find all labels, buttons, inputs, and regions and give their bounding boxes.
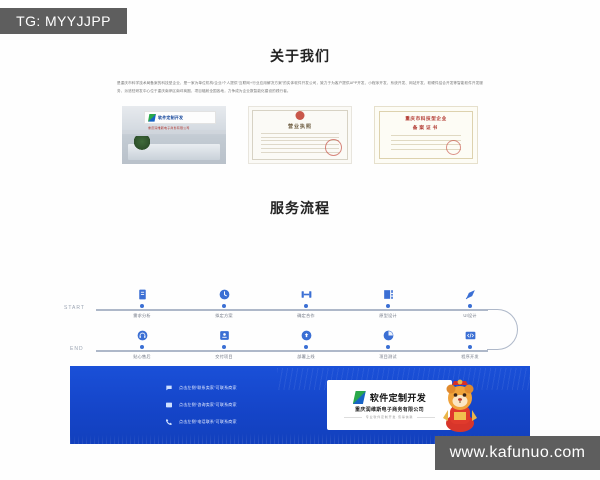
process-dot <box>468 345 472 349</box>
certificate-subtitle: 备案证书 <box>413 125 439 131</box>
process-dot <box>386 345 390 349</box>
process-node-6[interactable]: 贴心售后 <box>107 329 177 360</box>
tech-certificate-image[interactable]: 重庆市科技型企业 备案证书 <box>374 106 478 164</box>
process-dot <box>140 345 144 349</box>
contact-row-chat[interactable]: 点击左侧“联系卖家”可联系商家 <box>165 384 237 392</box>
code-icon <box>464 329 477 342</box>
headset-icon <box>136 329 149 342</box>
process-node-3[interactable]: 确定合作 <box>271 288 341 319</box>
process-dot <box>222 345 226 349</box>
content-column: 关于我们 是重庆市科学技术局备案的科技型企业，是一家为单位机构/企业/个人提供“… <box>60 0 540 421</box>
office-company-text: 重庆润维斯电子商务有限公司 <box>148 126 190 130</box>
process-node-label: 项目测试 <box>353 354 423 360</box>
contact-text: 点击左侧“电话联系”可联系商家 <box>179 419 237 425</box>
process-node-label: 贴心售后 <box>107 354 177 360</box>
contact-row-phone[interactable]: 点击左侧“电话联系”可联系商家 <box>165 418 237 426</box>
about-section-title: 关于我们 <box>60 46 540 66</box>
message-icon <box>165 401 173 409</box>
card-brand-row: 软件定制开发 <box>353 391 426 404</box>
license-title: 营业执照 <box>288 123 312 130</box>
process-node-label: 需求分析 <box>107 313 177 319</box>
process-dot <box>304 345 308 349</box>
phone-icon <box>165 418 173 426</box>
certificate-title: 重庆市科技型企业 <box>405 116 447 122</box>
contact-text: 点击左侧“联系卖家”可联系商家 <box>179 385 237 391</box>
license-emblem-icon <box>296 111 305 120</box>
process-dot <box>222 304 226 308</box>
brand-logo-icon <box>148 114 156 122</box>
office-signboard: 软件定制开发 <box>144 111 216 124</box>
card-company-name: 重庆润维斯电子商务有限公司 <box>355 406 424 413</box>
office-plant <box>134 136 150 150</box>
process-node-5[interactable]: UI设计 <box>435 288 505 319</box>
credential-images: 软件定制开发 重庆润维斯电子商务有限公司 营业执照 重庆市科技型企业 备案证书 <box>60 106 540 164</box>
cloud-upload-icon <box>300 329 313 342</box>
delivery-icon <box>218 329 231 342</box>
process-node-9[interactable]: 项目测试 <box>353 329 423 360</box>
page-root: 关于我们 是重庆市科学技术局备案的科技型企业，是一家为单位机构/企业/个人提供“… <box>0 0 600 480</box>
process-node-label: UI设计 <box>435 313 505 319</box>
process-node-label: 部署上线 <box>271 354 341 360</box>
footer-contacts: 点击左侧“联系卖家”可联系商家 点击左侧“咨询卖家”可联系商家 点击左侧“电话联… <box>165 384 237 435</box>
chart-icon <box>382 329 395 342</box>
document-icon <box>136 288 149 301</box>
process-node-7[interactable]: 交付项目 <box>189 329 259 360</box>
layout-icon <box>382 288 395 301</box>
contact-row-message[interactable]: 点击左侧“咨询卖家”可联系商家 <box>165 401 237 409</box>
contact-text: 点击左侧“咨询卖家”可联系商家 <box>179 402 237 408</box>
process-node-4[interactable]: 原型设计 <box>353 288 423 319</box>
process-dot <box>304 304 308 308</box>
process-dot <box>468 304 472 308</box>
process-node-1[interactable]: 需求分析 <box>107 288 177 319</box>
clock-icon <box>218 288 231 301</box>
process-node-10[interactable]: 程序开发 <box>435 329 505 360</box>
process-flow: START END 需求分析 拟定方案 <box>60 254 540 372</box>
chat-icon <box>165 384 173 392</box>
license-red-seal-icon <box>325 139 342 156</box>
tiger-mascot <box>438 376 482 434</box>
process-node-label: 确定合作 <box>271 313 341 319</box>
footer-banner: 点击左侧“联系卖家”可联系商家 点击左侧“咨询卖家”可联系商家 点击左侧“电话联… <box>70 366 530 444</box>
office-sign-text: 软件定制开发 <box>158 115 183 121</box>
process-end-label: END <box>70 346 84 352</box>
process-node-label: 拟定方案 <box>189 313 259 319</box>
watermark-bottom-right: www.kafunuo.com <box>435 436 600 470</box>
card-brand-text: 软件定制开发 <box>370 391 426 404</box>
process-node-8[interactable]: 部署上线 <box>271 329 341 360</box>
process-node-label: 交付项目 <box>189 354 259 360</box>
company-logo-icon <box>353 391 366 404</box>
watermark-top-left: TG: MYYJJPP <box>0 8 127 34</box>
process-node-label: 原型设计 <box>353 313 423 319</box>
process-dot <box>140 304 144 308</box>
certificate-seal-icon <box>446 140 461 155</box>
process-start-label: START <box>64 305 85 311</box>
card-slogan: 专业软件定制开发·值得信赖 <box>344 415 435 419</box>
process-dot <box>386 304 390 308</box>
handshake-icon <box>300 288 313 301</box>
about-paragraph: 是重庆市科学技术局备案的科技型企业，是一家为单位机构/企业/个人提供“互联网+行… <box>117 80 483 95</box>
process-node-label: 程序开发 <box>435 354 505 360</box>
business-license-image[interactable]: 营业执照 <box>248 106 352 164</box>
office-photo-image[interactable]: 软件定制开发 重庆润维斯电子商务有限公司 <box>122 106 226 164</box>
process-node-2[interactable]: 拟定方案 <box>189 288 259 319</box>
company-card[interactable]: 软件定制开发 重庆润维斯电子商务有限公司 专业软件定制开发·值得信赖 <box>327 380 452 430</box>
pen-icon <box>464 288 477 301</box>
process-section-title: 服务流程 <box>60 198 540 218</box>
